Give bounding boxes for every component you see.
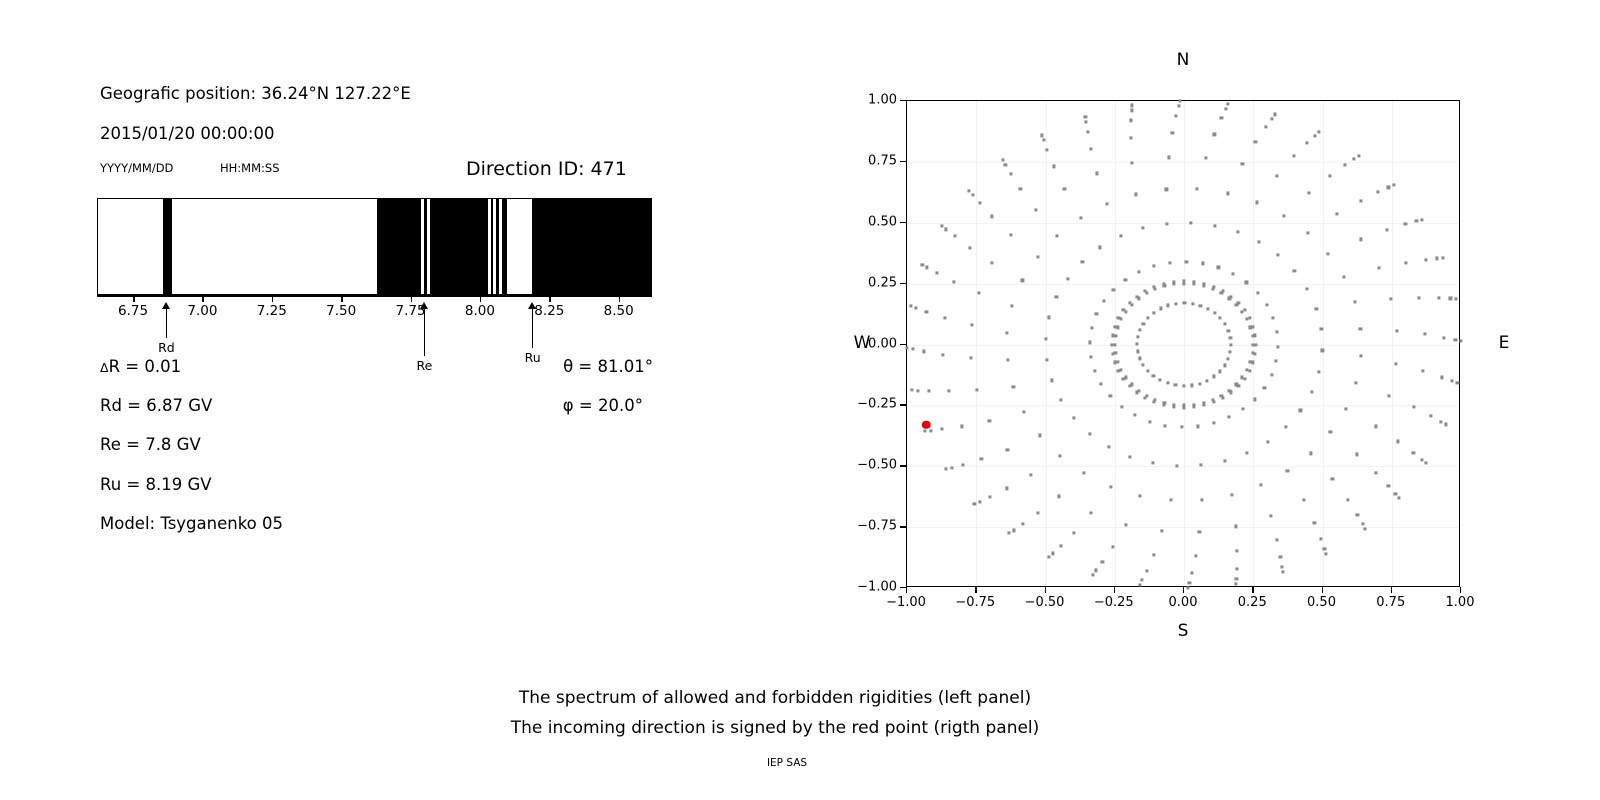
direction-point <box>1117 317 1120 320</box>
direction-point <box>1162 404 1165 407</box>
direction-point <box>1059 399 1062 402</box>
direction-point <box>1342 275 1345 278</box>
direction-point <box>1245 281 1248 284</box>
marker-arrow-rd <box>162 302 170 309</box>
direction-point <box>1050 379 1053 382</box>
direction-point <box>1353 301 1356 304</box>
spectrum-tick <box>480 295 482 302</box>
marker-arrow-re <box>420 302 428 309</box>
direction-point <box>1167 304 1170 307</box>
direction-point <box>1004 163 1007 166</box>
direction-point <box>1377 266 1380 269</box>
direction-point <box>1136 335 1139 338</box>
direction-point <box>1102 300 1105 303</box>
direction-point <box>1232 272 1235 275</box>
direction-point <box>1193 406 1196 409</box>
direction-point <box>1122 309 1125 312</box>
gridline-vertical <box>1184 101 1185 586</box>
direction-point <box>1203 282 1206 285</box>
direction-point <box>1223 459 1226 462</box>
direction-point <box>1201 262 1204 265</box>
spectrum-tick <box>619 295 621 302</box>
direction-point <box>1310 390 1313 393</box>
direction-point <box>1038 434 1041 437</box>
x-axis-tick <box>906 587 907 593</box>
marker-line-ru <box>532 308 533 348</box>
direction-point <box>1159 379 1162 382</box>
y-axis-tick-label: 0.50 <box>868 214 906 229</box>
param-ru: Ru = 8.19 GV <box>100 475 212 494</box>
direction-point <box>1162 282 1165 285</box>
spectrum-tick-label: 8.25 <box>534 303 564 319</box>
direction-point <box>922 350 925 353</box>
direction-point <box>1344 407 1347 410</box>
direction-point <box>1324 552 1327 555</box>
direction-point <box>1275 359 1278 362</box>
x-axis-tick-label: 0.75 <box>1376 595 1405 610</box>
direction-point <box>1037 512 1040 515</box>
direction-point <box>1056 234 1059 237</box>
direction-point <box>1159 307 1162 310</box>
gridline-vertical <box>1392 101 1393 586</box>
direction-point <box>1218 370 1221 373</box>
direction-point <box>1359 238 1362 241</box>
direction-point <box>921 263 924 266</box>
direction-point <box>1117 369 1120 372</box>
direction-point <box>1237 384 1240 387</box>
direction-point <box>1146 369 1149 372</box>
direction-point <box>1174 114 1177 117</box>
direction-point <box>1223 364 1226 367</box>
footer-credit: IEP SAS <box>767 757 807 769</box>
polar-plot-frame <box>906 100 1460 587</box>
y-axis-tick-label: 1.00 <box>868 93 906 108</box>
direction-point <box>1176 465 1179 468</box>
direction-point <box>1204 156 1207 159</box>
direction-point <box>927 390 930 393</box>
direction-point <box>1234 525 1237 528</box>
direction-point <box>1152 374 1155 377</box>
direction-point <box>1172 280 1175 283</box>
direction-point <box>968 246 971 249</box>
direction-point <box>1011 304 1014 307</box>
direction-point <box>1436 257 1439 260</box>
direction-point <box>1404 222 1407 225</box>
direction-point <box>1129 119 1132 122</box>
direction-point <box>1234 582 1237 585</box>
direction-point <box>1196 188 1199 191</box>
spectrum-axis-line <box>97 295 652 297</box>
direction-point <box>1175 302 1178 305</box>
direction-point <box>1124 278 1127 281</box>
direction-point <box>970 356 973 359</box>
direction-point <box>1196 425 1199 428</box>
direction-point <box>1217 266 1220 269</box>
direction-point <box>1220 116 1223 119</box>
direction-point <box>1114 352 1117 355</box>
direction-point <box>1323 547 1326 550</box>
y-axis-tick-label: 0.00 <box>868 336 906 351</box>
direction-point <box>1091 573 1094 576</box>
direction-point <box>1110 343 1113 346</box>
direction-point <box>1353 157 1356 160</box>
direction-point <box>1315 307 1318 310</box>
direction-point <box>1045 148 1048 151</box>
direction-point <box>1198 382 1201 385</box>
direction-point <box>1086 130 1089 133</box>
direction-point <box>1045 358 1048 361</box>
spectrum-tick-label: 7.25 <box>257 303 287 319</box>
direction-point <box>1246 451 1249 454</box>
date-format-hint: YYYY/MM/DD <box>100 161 173 175</box>
direction-point <box>1293 269 1296 272</box>
forbidden-band <box>430 199 488 294</box>
direction-point <box>1456 382 1459 385</box>
direction-point <box>1454 338 1457 341</box>
direction-point <box>1152 400 1155 403</box>
direction-point <box>1178 99 1181 102</box>
direction-point <box>1328 174 1331 177</box>
direction-point <box>1354 381 1357 384</box>
direction-point <box>1405 261 1408 264</box>
direction-point <box>1377 190 1380 193</box>
direction-point <box>991 215 994 218</box>
direction-point <box>1449 297 1452 300</box>
direction-point <box>1395 362 1398 365</box>
direction-point <box>1135 343 1138 346</box>
direction-point <box>1189 221 1192 224</box>
direction-point <box>1257 241 1260 244</box>
direction-point <box>1265 303 1268 306</box>
direction-point <box>1254 343 1257 346</box>
direction-point <box>1229 350 1232 353</box>
direction-point <box>968 189 971 192</box>
direction-point <box>1010 233 1013 236</box>
direction-point <box>1005 487 1008 490</box>
direction-point <box>1124 523 1127 526</box>
direction-point <box>1331 478 1334 481</box>
direction-point <box>1084 120 1087 123</box>
marker-line-re <box>424 308 425 356</box>
gridline-vertical <box>976 101 977 586</box>
direction-point <box>977 292 980 295</box>
direction-point <box>952 280 955 283</box>
direction-point <box>1356 514 1359 517</box>
direction-point <box>1420 458 1423 461</box>
direction-point <box>1185 260 1188 263</box>
direction-point <box>1420 218 1423 221</box>
direction-point <box>1299 409 1302 412</box>
compass-label-west: W <box>854 333 871 353</box>
direction-point <box>1122 377 1125 380</box>
direction-point <box>1346 498 1349 501</box>
spectrum-tick <box>549 295 551 302</box>
direction-point <box>1440 376 1443 379</box>
direction-point <box>1270 373 1273 376</box>
direction-point <box>1142 227 1145 230</box>
direction-point <box>1182 280 1185 283</box>
direction-point <box>1112 288 1115 291</box>
forbidden-band <box>532 199 652 294</box>
direction-point <box>1443 336 1446 339</box>
direction-point <box>1130 109 1133 112</box>
direction-point <box>1063 188 1066 191</box>
y-axis-tick-label: −0.25 <box>857 397 906 412</box>
direction-point <box>1254 334 1257 337</box>
direction-point <box>1213 224 1216 227</box>
direction-point <box>1051 552 1054 555</box>
direction-point <box>1276 174 1279 177</box>
direction-point <box>1227 416 1230 419</box>
gridline-horizontal <box>907 527 1459 528</box>
y-axis-tick-label: 0.75 <box>868 153 906 168</box>
direction-point <box>1006 358 1009 361</box>
direction-point <box>1182 406 1185 409</box>
direction-point <box>1359 355 1362 358</box>
direction-point <box>1006 331 1009 334</box>
direction-point <box>1089 355 1092 358</box>
direction-point <box>1194 555 1197 558</box>
direction-point <box>1135 391 1138 394</box>
direction-point <box>1190 572 1193 575</box>
direction-point <box>1059 545 1062 548</box>
direction-point <box>1212 400 1215 403</box>
x-axis-tick <box>1252 587 1253 593</box>
direction-point <box>1221 396 1224 399</box>
direction-point <box>1088 341 1091 344</box>
direction-point <box>1286 469 1289 472</box>
x-axis-tick-label: −0.75 <box>955 595 995 610</box>
x-axis-tick-label: 0.00 <box>1169 595 1198 610</box>
spectrum-tick <box>133 295 135 302</box>
direction-id-label: Direction ID: 471 <box>466 158 627 180</box>
direction-point <box>1177 104 1180 107</box>
direction-point <box>1374 471 1377 474</box>
asymptotic-direction-chart: −1.00−0.75−0.50−0.250.000.250.500.751.00… <box>906 100 1460 587</box>
direction-point <box>1081 260 1084 263</box>
direction-point <box>988 420 991 423</box>
selected-direction-point[interactable] <box>922 421 931 430</box>
param-model: Model: Tsyganenko 05 <box>100 514 283 533</box>
direction-point <box>1165 188 1168 191</box>
x-axis-tick-label: 1.00 <box>1446 595 1475 610</box>
marker-label-rd: Rd <box>158 340 175 355</box>
compass-label-north: N <box>1177 50 1190 70</box>
geographic-position: Geografic position: 36.24°N 127.22°E <box>100 84 411 103</box>
direction-point <box>1454 297 1457 300</box>
direction-point <box>1243 309 1246 312</box>
direction-point <box>1248 317 1251 320</box>
direction-point <box>1421 370 1424 373</box>
direction-point <box>1397 440 1400 443</box>
direction-point <box>1364 527 1367 530</box>
direction-point <box>1280 565 1283 568</box>
x-axis-tick-label: −1.00 <box>886 595 926 610</box>
direction-point <box>1355 453 1358 456</box>
direction-point <box>1114 334 1117 337</box>
direction-point <box>1088 432 1091 435</box>
direction-point <box>970 324 973 327</box>
direction-point <box>1006 448 1009 451</box>
direction-point <box>1394 493 1397 496</box>
direction-point <box>960 425 963 428</box>
direction-point <box>973 502 976 505</box>
direction-point <box>1227 103 1230 106</box>
direction-point <box>1142 322 1145 325</box>
direction-point <box>1344 163 1347 166</box>
direction-point <box>1106 202 1109 205</box>
direction-point <box>1413 406 1416 409</box>
direction-point <box>1374 425 1377 428</box>
direction-point <box>1252 325 1255 328</box>
direction-point <box>1219 317 1222 320</box>
direction-point <box>1359 199 1362 202</box>
direction-point <box>1134 193 1137 196</box>
direction-point <box>1012 529 1015 532</box>
direction-point <box>1136 350 1139 353</box>
direction-point <box>1293 155 1296 158</box>
marker-line-rd <box>166 308 167 338</box>
direction-point <box>1093 369 1096 372</box>
x-axis-tick <box>975 587 976 593</box>
direction-point <box>950 466 953 469</box>
direction-point <box>1066 277 1069 280</box>
direction-point <box>976 389 979 392</box>
direction-point <box>1359 327 1362 330</box>
spectrum-tick-label: 8.50 <box>604 303 634 319</box>
direction-point <box>1309 452 1312 455</box>
spectrum-tick <box>411 295 413 302</box>
direction-point <box>945 228 948 231</box>
direction-point <box>1306 141 1309 144</box>
direction-point <box>1430 415 1433 418</box>
direction-point <box>1424 462 1427 465</box>
direction-point <box>1165 222 1168 225</box>
direction-point <box>1313 521 1316 524</box>
direction-point <box>1302 498 1305 501</box>
direction-point <box>1113 361 1116 364</box>
direction-point <box>1423 333 1426 336</box>
direction-point <box>1227 329 1230 332</box>
gridline-horizontal <box>907 162 1459 163</box>
direction-point <box>1230 391 1233 394</box>
direction-point <box>1148 420 1151 423</box>
direction-point <box>1281 570 1284 573</box>
direction-point <box>1388 394 1391 397</box>
y-axis-tick-label: −0.75 <box>857 519 906 534</box>
direction-point <box>1138 328 1141 331</box>
direction-point <box>1147 316 1150 319</box>
direction-point <box>1166 382 1169 385</box>
compass-label-south: S <box>1178 621 1189 641</box>
direction-point <box>1143 396 1146 399</box>
direction-point <box>1029 473 1032 476</box>
direction-point <box>1313 134 1316 137</box>
direction-point <box>1241 163 1244 166</box>
rigidity-spectrum-chart: 6.757.007.257.507.758.008.258.50 RdReRu <box>97 198 652 295</box>
direction-point <box>1057 495 1060 498</box>
spectrum-tick <box>341 295 343 302</box>
direction-point <box>1248 369 1251 372</box>
direction-point <box>1256 291 1259 294</box>
direction-point <box>1111 545 1114 548</box>
spectrum-tick-label: 6.75 <box>118 303 148 319</box>
direction-point <box>1113 325 1116 328</box>
direction-point <box>1266 440 1269 443</box>
direction-point <box>1111 352 1114 355</box>
direction-point <box>911 348 914 351</box>
direction-point <box>1424 258 1427 261</box>
direction-point <box>1040 134 1043 137</box>
direction-point <box>1129 455 1132 458</box>
direction-point <box>1138 583 1141 586</box>
direction-point <box>1072 531 1075 534</box>
direction-point <box>942 353 945 356</box>
direction-point <box>1095 313 1098 316</box>
spectrum-tick-label: 7.00 <box>187 303 217 319</box>
direction-point <box>935 271 938 274</box>
direction-point <box>1143 290 1146 293</box>
direction-point <box>1089 148 1092 151</box>
x-axis-tick-label: 0.25 <box>1238 595 1267 610</box>
delta-r-value: R = 0.01 <box>109 357 182 376</box>
direction-point <box>1130 104 1133 107</box>
direction-point <box>1459 339 1462 342</box>
direction-point <box>1264 126 1267 129</box>
x-axis-tick-label: 0.50 <box>1307 595 1336 610</box>
direction-point <box>1395 329 1398 332</box>
direction-point <box>1120 405 1123 408</box>
direction-point <box>1412 451 1415 454</box>
direction-point <box>1319 538 1322 541</box>
direction-point <box>1241 408 1244 411</box>
direction-point <box>1090 326 1093 329</box>
direction-point <box>1128 301 1131 304</box>
direction-point <box>1174 384 1177 387</box>
direction-point <box>1206 307 1209 310</box>
forbidden-band <box>502 199 508 294</box>
direction-point <box>1152 285 1155 288</box>
direction-point <box>1152 264 1155 267</box>
direction-point <box>1357 154 1360 157</box>
direction-point <box>1307 191 1310 194</box>
direction-point <box>1161 529 1164 532</box>
spectrum-tick <box>272 295 274 302</box>
direction-point <box>1052 165 1055 168</box>
direction-point <box>1252 361 1255 364</box>
direction-point <box>1009 172 1012 175</box>
direction-point <box>1129 136 1132 139</box>
direction-point <box>1137 270 1140 273</box>
direction-point <box>1023 411 1026 414</box>
direction-point <box>1361 523 1364 526</box>
direction-point <box>978 201 981 204</box>
direction-point <box>1059 454 1062 457</box>
direction-point <box>1321 349 1324 352</box>
direction-point <box>1230 295 1233 298</box>
direction-point <box>1021 523 1024 526</box>
direction-point <box>1270 117 1273 120</box>
direction-point <box>1152 553 1155 556</box>
direction-point <box>1439 420 1442 423</box>
direction-point <box>1235 567 1238 570</box>
direction-point <box>1224 107 1227 110</box>
direction-point <box>1255 201 1258 204</box>
direction-point <box>1200 498 1203 501</box>
direction-point <box>1203 404 1206 407</box>
direction-point <box>941 224 944 227</box>
direction-point <box>1326 252 1329 255</box>
